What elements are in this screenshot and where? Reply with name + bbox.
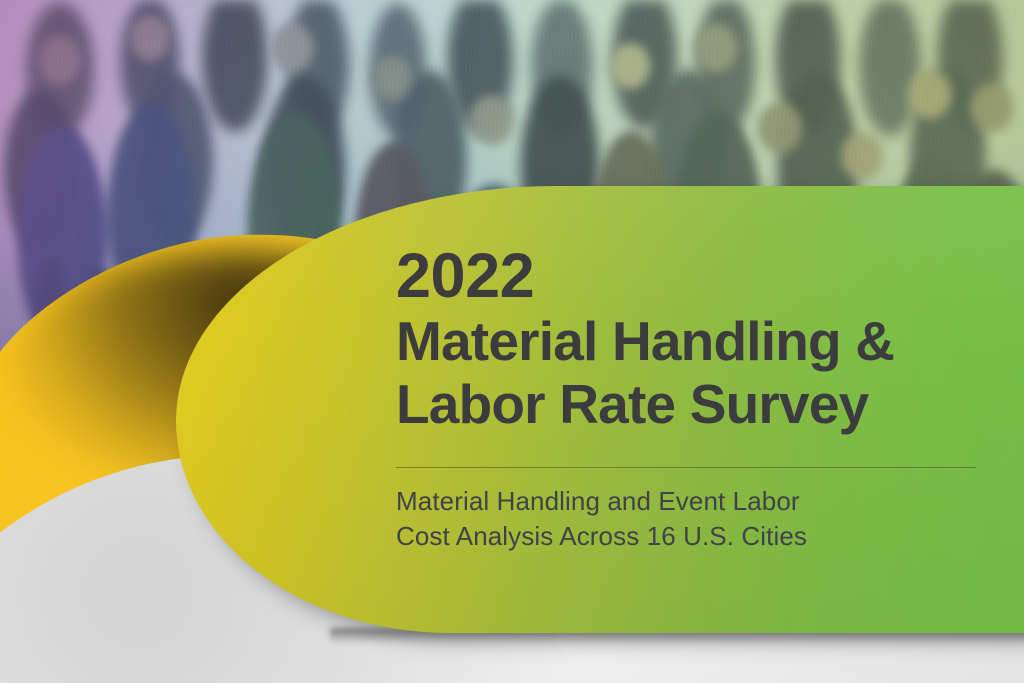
title-divider [396,467,976,468]
report-subtitle-line-1: Material Handling and Event Labor [396,484,996,519]
report-subtitle: Material Handling and Event Labor Cost A… [396,484,996,554]
report-year: 2022 [396,244,996,308]
report-title-line-2: Labor Rate Survey [396,375,996,434]
report-subtitle-line-2: Cost Analysis Across 16 U.S. Cities [396,519,996,554]
cover-page: 2022 Material Handling & Labor Rate Surv… [0,0,1024,683]
title-block: 2022 Material Handling & Labor Rate Surv… [396,244,996,434]
report-title-line-1: Material Handling & [396,312,996,371]
